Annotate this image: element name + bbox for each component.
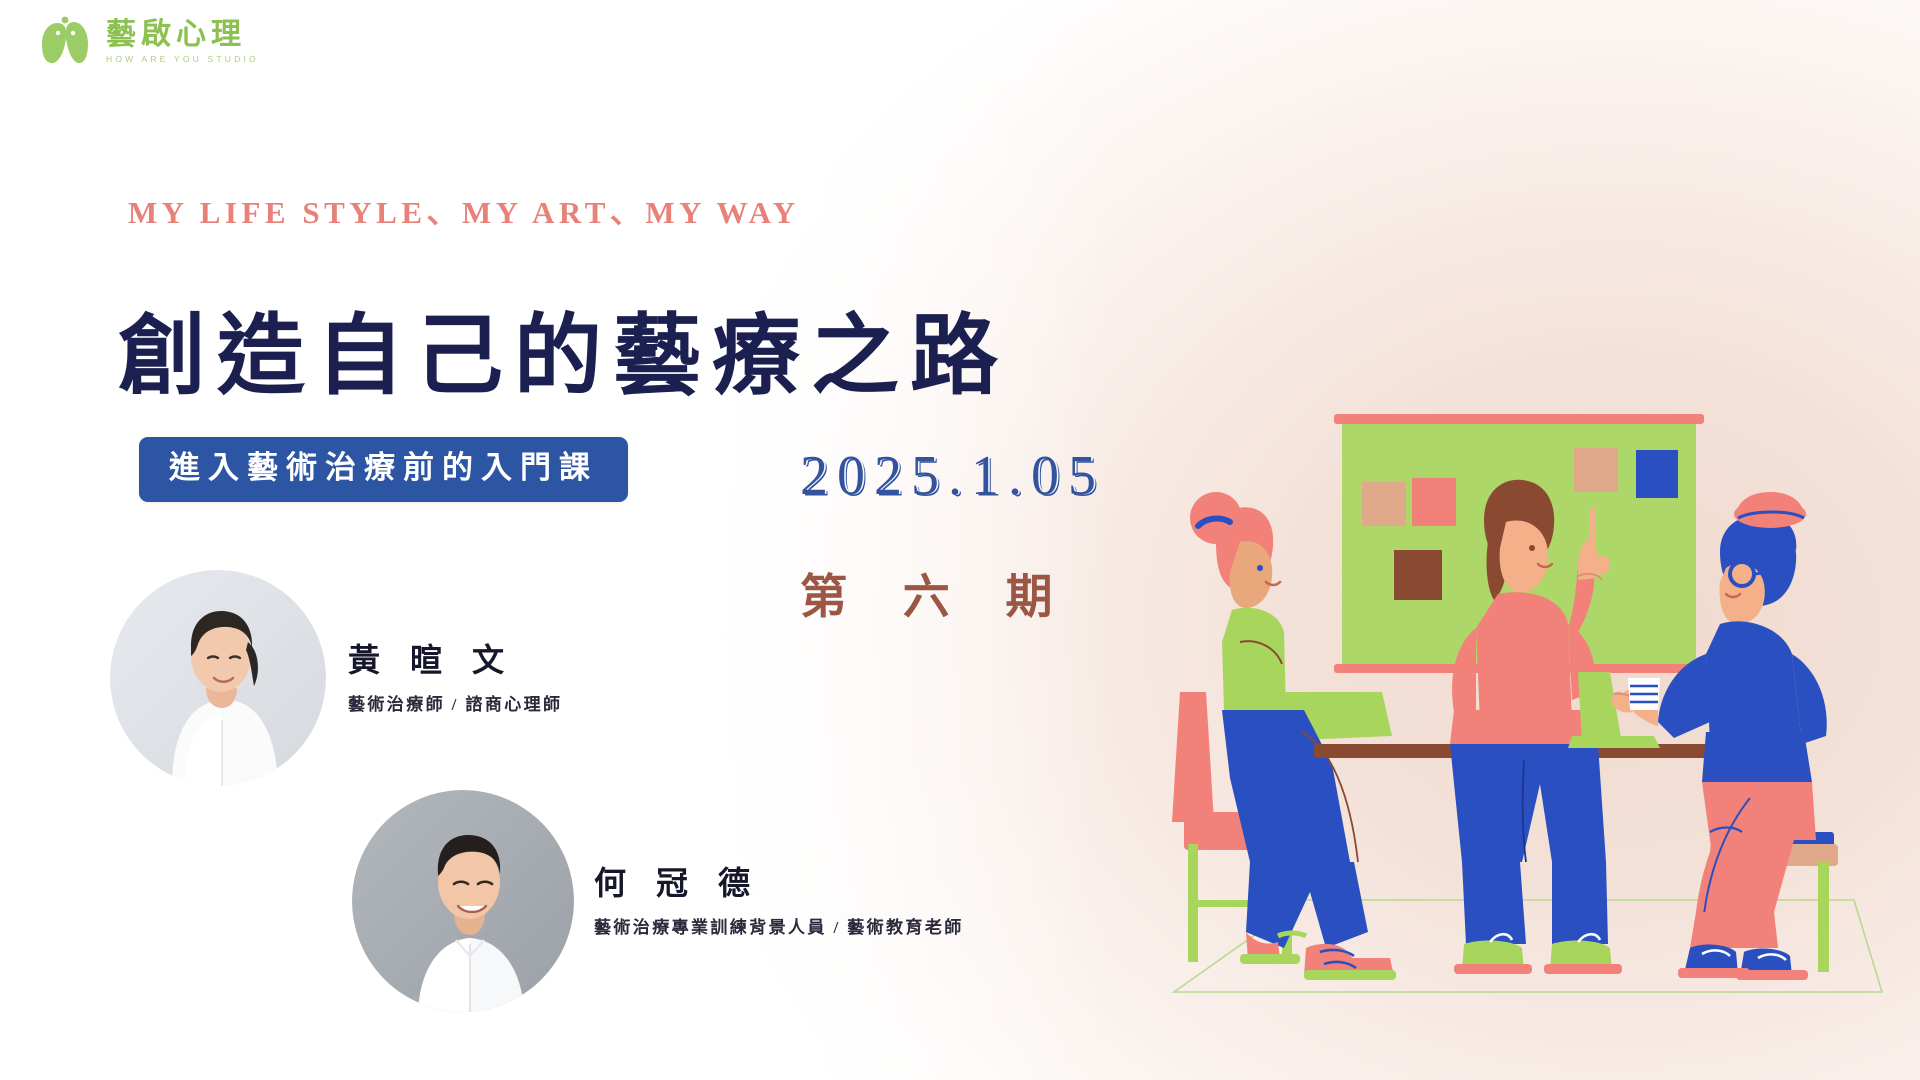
poster-canvas: 藝啟心理 HOW ARE YOU STUDIO MY LIFE STYLE、MY… <box>0 0 1920 1080</box>
logo-english-name: HOW ARE YOU STUDIO <box>106 55 259 64</box>
avatar <box>352 790 574 1012</box>
classroom-discussion-illustration <box>1154 392 1894 1052</box>
page-title: 創造自己的藝療之路 <box>118 314 1009 402</box>
speaker-role: 藝術治療專業訓練背景人員 / 藝術教育老師 <box>594 919 964 936</box>
speaker-card: 黃 暄 文 藝術治療師 / 諮商心理師 <box>110 570 562 786</box>
event-date: 2025.1.05 <box>800 448 1105 504</box>
tagline: MY LIFE STYLE、MY ART、MY WAY <box>128 187 800 232</box>
brand-logo[interactable]: 藝啟心理 HOW ARE YOU STUDIO <box>34 14 259 70</box>
logo-chinese-name: 藝啟心理 <box>106 20 259 50</box>
speaker-role: 藝術治療師 / 諮商心理師 <box>348 696 562 713</box>
avatar <box>110 570 326 786</box>
left-content: MY LIFE STYLE、MY ART、MY WAY 創造自己的藝療之路 進入… <box>0 0 1180 1080</box>
edition-label: 第 六 期 <box>800 575 1075 622</box>
course-badge: 進入藝術治療前的入門課 <box>139 437 628 502</box>
leaf-face-logo-icon <box>34 14 96 70</box>
speaker-name: 黃 暄 文 <box>348 644 562 676</box>
speaker-name: 何 冠 德 <box>594 867 964 899</box>
speaker-card: 何 冠 德 藝術治療專業訓練背景人員 / 藝術教育老師 <box>352 790 964 1012</box>
